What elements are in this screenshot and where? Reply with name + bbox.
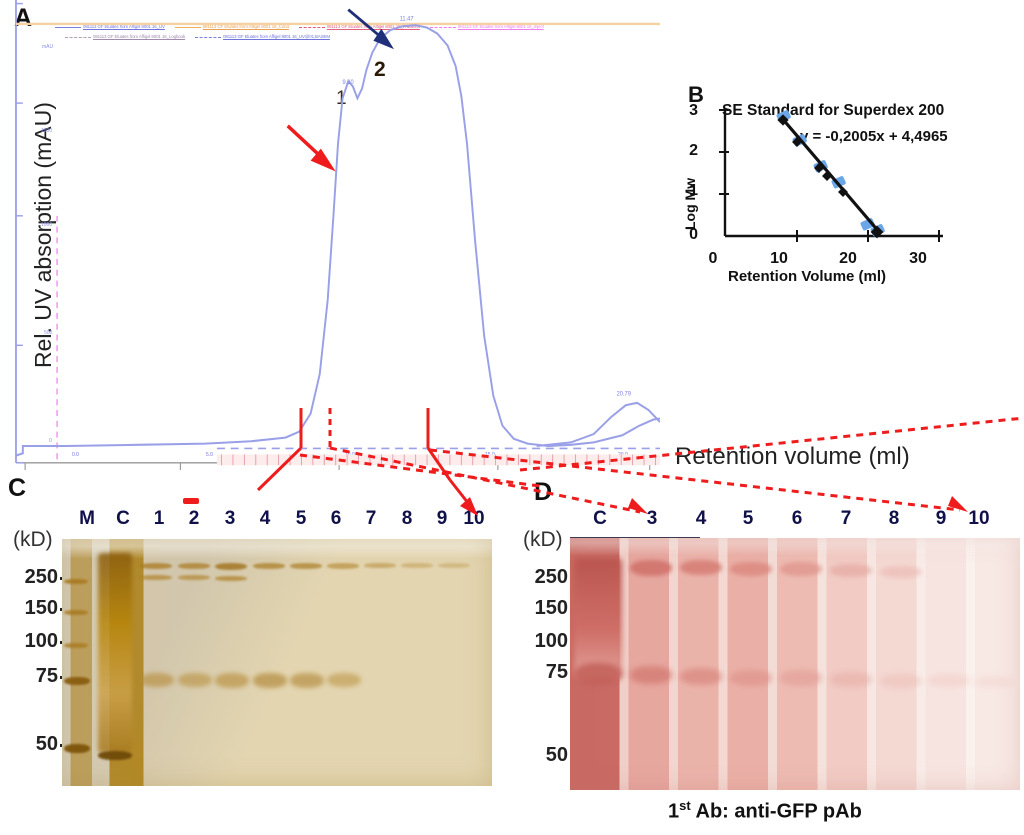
blot-band [574,663,622,685]
western-blot-image [570,538,1020,790]
mw-label-d-250: 250 [510,566,568,589]
blot-band [974,676,1014,688]
gel-band [401,563,433,568]
gel-band [98,553,132,753]
b-x-tick-30: 30 [905,250,931,268]
mw-label-d-75: 75 [510,661,568,684]
blot-band [730,670,772,686]
uv-absorbance-trace [16,25,660,455]
chromatogram-plot: 9.30 11.47 20.79 [0,0,660,470]
mw-label-d-50: 50 [510,744,568,767]
panel-c-letter: C [8,474,26,503]
blot-band [630,560,672,576]
blot-band [880,566,922,578]
mw-label-d-150: 150 [510,597,568,620]
b-y-tick-2: 2 [682,142,698,160]
red-callout-arrow [288,126,336,172]
blot-band [680,560,722,575]
peak-2-value: 11.47 [400,16,414,22]
navy-callout-arrow [348,10,394,50]
gel-band [290,563,322,569]
gel-band [140,563,172,569]
mw-label-c-150: 150 [0,597,58,620]
figure-canvas: A Rel. UV absorption (mAU) 081113 GF Elu… [0,0,1024,835]
b-x-tick-0: 0 [700,250,726,268]
peak-1-value: 9.30 [343,80,355,86]
mw-label-c-50: 50 [0,733,58,756]
calibration-plot [715,108,945,248]
blot-band [630,666,672,684]
blot-band [780,562,822,576]
lane-label-c-9: 9 [429,508,455,530]
blot-band [680,668,722,685]
gel-band [327,673,361,687]
late-peak-value: 20.79 [617,392,631,398]
lane-label-c-5: 5 [288,508,314,530]
gel-band [290,673,324,688]
lane-label-c-10: 10 [461,508,487,530]
gel-band [438,563,470,568]
caption-prefix: 1 [668,801,679,823]
lane-label-d-C: C [587,508,613,530]
lane-label-c-4: 4 [252,508,278,530]
lane-label-d-7: 7 [833,508,859,530]
gel-band [64,744,90,753]
lane-label-d-6: 6 [784,508,810,530]
blot-band [880,674,922,688]
lane-label-c-M: M [74,508,100,530]
gel-band [140,673,174,687]
fraction-ruler [217,454,660,465]
mw-label-c-100: 100 [0,630,58,653]
silver-stained-gel-image [62,539,492,786]
panel-d-kd-label: (kD) [523,528,563,552]
gel-band [98,751,132,760]
gel-band [64,643,88,648]
gel-band [64,579,88,584]
gel-band [215,563,247,570]
b-y-tick-3: 3 [682,102,698,120]
y-axis-ticks [16,4,23,463]
gel-band [253,563,285,569]
panel-a-x-axis-label: Retention volume (ml) [675,443,910,471]
panel-d-caption: 1st Ab: anti-GFP pAb [668,798,862,824]
panel-d-letter: D [534,478,552,507]
blot-band [830,672,872,687]
b-y-tick-0: 0 [682,226,698,244]
lane-label-c-C: C [110,508,136,530]
blot-band [574,558,622,678]
lane-label-c-3: 3 [217,508,243,530]
gel-band [178,563,210,569]
lane-label-d-9: 9 [928,508,954,530]
caption-superscript: st [679,798,691,813]
caption-rest: Ab: anti-GFP pAb [691,801,862,823]
panel-c-kd-label: (kD) [13,528,53,552]
panel-b-calibration: B SE Standard for Superdex 200 y = -0,20… [660,80,1024,295]
blot-band [730,562,772,576]
lane-label-d-5: 5 [735,508,761,530]
mw-label-c-250: 250 [0,566,58,589]
panel-a-chromatogram: A Rel. UV absorption (mAU) 081113 GF Elu… [0,0,660,470]
gel-band [140,575,172,580]
panel-b-x-axis-label: Retention Volume (ml) [728,268,886,285]
b-x-tick-10: 10 [766,250,792,268]
mw-label-d-100: 100 [510,630,568,653]
lane-label-d-10: 10 [966,508,992,530]
lane-label-c-7: 7 [358,508,384,530]
gel-band [178,673,212,687]
gel-band [215,576,247,581]
blot-band [830,564,872,577]
lane-label-d-8: 8 [881,508,907,530]
mw-label-c-75: 75 [0,665,58,688]
lane-label-d-3: 3 [639,508,665,530]
gel-band [327,563,359,569]
gel-band [253,673,287,688]
lane-label-c-2: 2 [181,508,207,530]
gel-band [178,575,210,580]
blot-band [780,670,822,686]
gel-band [64,610,88,615]
b-y-tick-1: 1 [682,182,698,200]
blot-band [928,674,970,687]
b-x-tick-20: 20 [835,250,861,268]
lane-label-c-1: 1 [146,508,172,530]
lane-label-d-4: 4 [688,508,714,530]
lane-label-c-8: 8 [394,508,420,530]
gel-band [364,563,396,568]
gel-band [64,677,90,685]
lane-label-c-6: 6 [323,508,349,530]
gel-band [215,673,249,688]
